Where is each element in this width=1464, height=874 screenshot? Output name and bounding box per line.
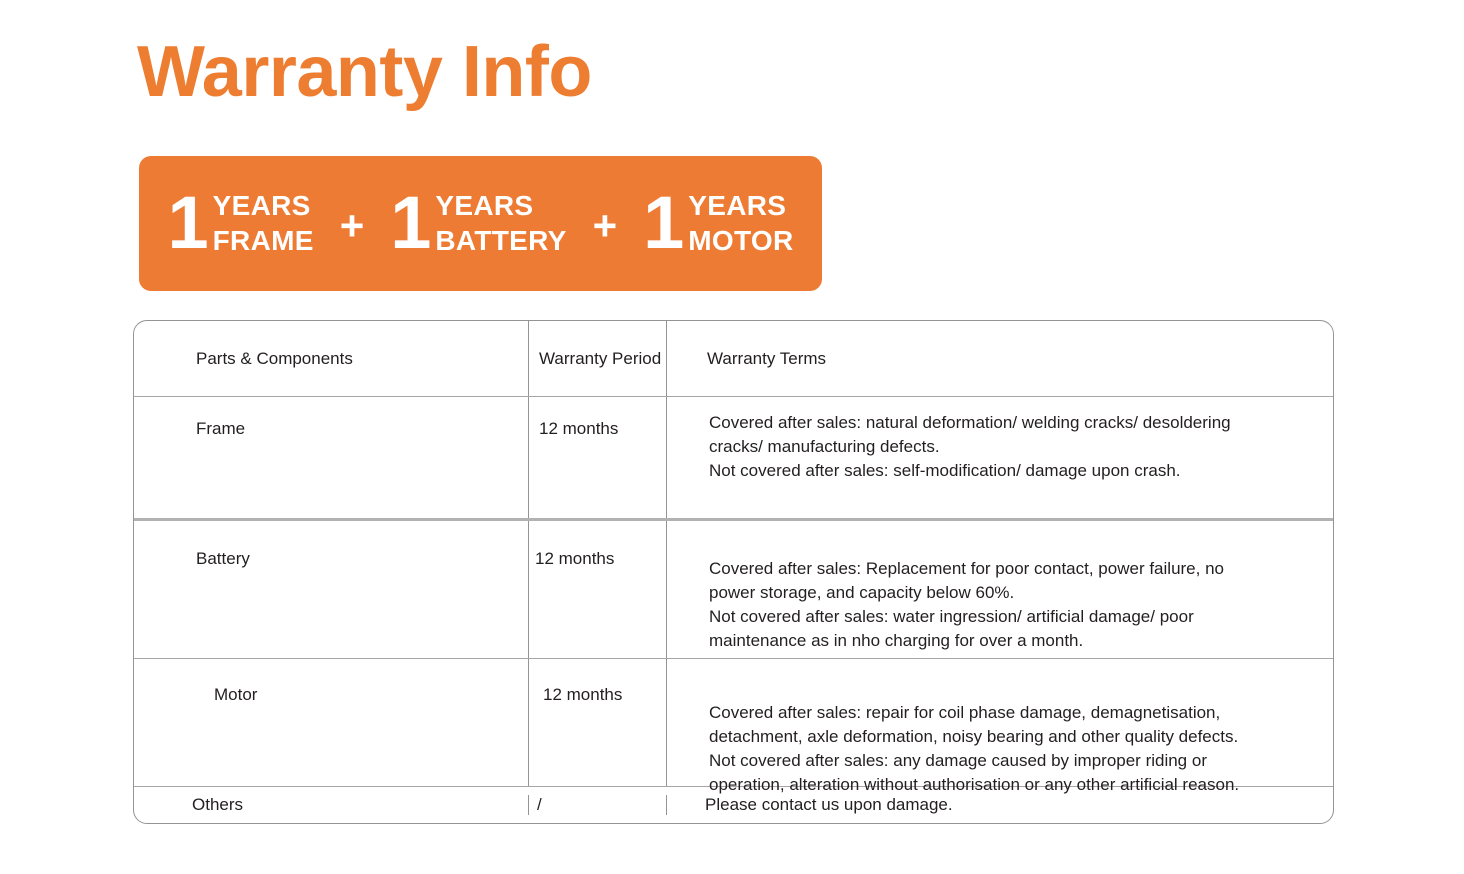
part-label-motor: Motor [214,685,257,704]
terms-line: maintenance as in nho charging for over … [709,629,1315,653]
table-cell-part-others: Others [134,795,529,815]
table-cell-terms-others: Please contact us upon damage. [667,793,1333,817]
period-value-others: / [537,795,542,815]
warranty-banner-item-battery: 1 YEARS BATTERY [390,189,566,257]
terms-line: cracks/ manufacturing defects. [709,435,1315,459]
terms-line: detachment, axle deformation, noisy bear… [709,725,1315,749]
period-value-frame: 12 months [539,419,618,438]
warranty-component-frame: FRAME [213,224,314,258]
period-value-motor: 12 months [543,685,622,704]
terms-line: Covered after sales: Replacement for poo… [709,557,1315,581]
table-header-cell-period: Warranty Period [529,321,667,396]
terms-text-battery: Covered after sales: Replacement for poo… [667,557,1333,654]
terms-text-motor: Covered after sales: repair for coil pha… [667,701,1333,798]
warranty-years-number-battery: 1 [390,193,429,254]
period-value-battery: 12 months [535,549,614,568]
table-header-parts-label: Parts & Components [134,349,353,369]
table-cell-part-battery: Battery [134,521,529,658]
warranty-unit-battery: YEARS [435,189,566,223]
table-row: Others / Please contact us upon damage. [134,787,1333,823]
table-cell-part-motor: Motor [134,659,529,786]
terms-line: Please contact us upon damage. [705,793,953,817]
table-cell-period-frame: 12 months [529,397,667,518]
table-row: Battery 12 months Covered after sales: R… [134,521,1333,659]
warranty-banner-labels-battery: YEARS BATTERY [435,189,566,257]
table-row: Frame 12 months Covered after sales: nat… [134,397,1333,521]
terms-line: Not covered after sales: any damage caus… [709,749,1315,773]
terms-line: Covered after sales: repair for coil pha… [709,701,1315,725]
part-label-battery: Battery [196,549,250,568]
warranty-years-number-frame: 1 [168,193,207,254]
table-cell-period-battery: 12 months [529,521,667,658]
warranty-unit-frame: YEARS [213,189,314,223]
warranty-banner-item-frame: 1 YEARS FRAME [168,189,314,257]
page-title: Warranty Info [137,36,592,108]
terms-line: Not covered after sales: self-modificati… [709,459,1315,483]
terms-text-others: Please contact us upon damage. [667,793,971,817]
warranty-unit-motor: YEARS [688,189,793,223]
warranty-years-number-motor: 1 [643,193,682,254]
warranty-component-motor: MOTOR [688,224,793,258]
warranty-banner-labels-motor: YEARS MOTOR [688,189,793,257]
terms-line: Not covered after sales: water ingressio… [709,605,1315,629]
table-header-terms-label: Warranty Terms [667,349,826,369]
table-cell-terms-battery: Covered after sales: Replacement for poo… [667,521,1333,658]
table-cell-period-others: / [529,795,667,815]
part-label-frame: Frame [196,419,245,438]
warranty-table: Parts & Components Warranty Period Warra… [133,320,1334,824]
table-cell-part-frame: Frame [134,397,529,518]
warranty-banner-item-motor: 1 YEARS MOTOR [643,189,793,257]
warranty-banner-labels-frame: YEARS FRAME [213,189,314,257]
terms-line: Covered after sales: natural deformation… [709,411,1315,435]
table-cell-terms-motor: Covered after sales: repair for coil pha… [667,659,1333,786]
part-label-others: Others [192,795,243,815]
table-header-period-label: Warranty Period [529,349,661,369]
terms-line: power storage, and capacity below 60%. [709,581,1315,605]
table-row: Motor 12 months Covered after sales: rep… [134,659,1333,787]
table-header-cell-terms: Warranty Terms [667,321,1333,396]
plus-icon-1: + [340,205,365,247]
plus-icon-2: + [593,205,618,247]
table-cell-period-motor: 12 months [529,659,667,786]
table-cell-terms-frame: Covered after sales: natural deformation… [667,397,1333,518]
table-header-cell-parts: Parts & Components [134,321,529,396]
terms-text-frame: Covered after sales: natural deformation… [667,411,1333,483]
warranty-component-battery: BATTERY [435,224,566,258]
warranty-summary-banner: 1 YEARS FRAME + 1 YEARS BATTERY + 1 YEAR… [139,156,822,291]
table-header-row: Parts & Components Warranty Period Warra… [134,321,1333,397]
